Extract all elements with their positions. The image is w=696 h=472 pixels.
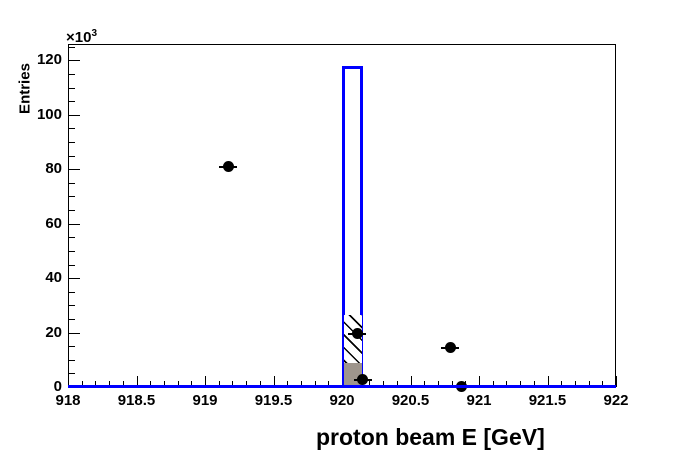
y-tick-label: 40 (12, 269, 62, 286)
y-tick-label: 100 (12, 106, 62, 123)
y-major-tick (68, 278, 80, 279)
baseline-blue (68, 385, 616, 388)
y-minor-tick (68, 210, 75, 211)
y-minor-tick (68, 196, 75, 197)
y-minor-tick (68, 128, 75, 129)
data-point-marker (445, 342, 456, 353)
data-point-marker (352, 328, 363, 339)
y-minor-tick (68, 305, 75, 306)
y-minor-tick (68, 156, 75, 157)
y-minor-tick (68, 373, 75, 374)
y-minor-tick (68, 237, 75, 238)
y-minor-tick (68, 346, 75, 347)
y-minor-tick (68, 74, 75, 75)
y-minor-tick (68, 47, 75, 48)
data-point-marker (223, 161, 234, 172)
y-minor-tick (68, 319, 75, 320)
x-tick-label: 922 (576, 392, 656, 409)
y-minor-tick (68, 360, 75, 361)
y-minor-tick (68, 101, 75, 102)
y-minor-tick (68, 142, 75, 143)
x-major-tick (616, 376, 617, 387)
y-minor-tick (68, 88, 75, 89)
y-major-tick (68, 115, 80, 116)
y-major-tick (68, 60, 80, 61)
y-tick-label: 80 (12, 160, 62, 177)
y-major-tick (68, 169, 80, 170)
y-tick-label: 120 (12, 51, 62, 68)
y-tick-label: 60 (12, 215, 62, 232)
y-minor-tick (68, 292, 75, 293)
y-major-tick (68, 224, 80, 225)
y-tick-label: 20 (12, 324, 62, 341)
y-minor-tick (68, 251, 75, 252)
y-minor-tick (68, 183, 75, 184)
plot-canvas: Entries ×103 020406080100120 918918.5919… (0, 0, 696, 472)
y-minor-tick (68, 265, 75, 266)
x-axis-title: proton beam E [GeV] (316, 424, 545, 451)
y-major-tick (68, 333, 80, 334)
